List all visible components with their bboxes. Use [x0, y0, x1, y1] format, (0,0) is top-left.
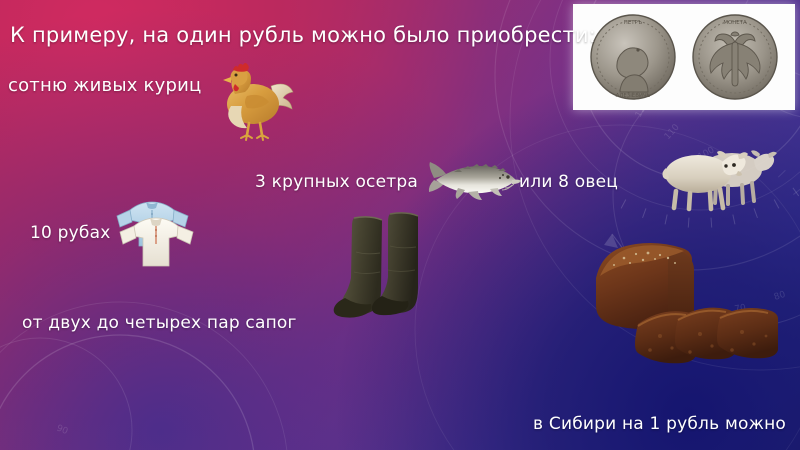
page-title: К примеру, на один рубль можно было прио… — [10, 22, 596, 48]
item-bread-line-1: в Сибири на 1 рубль можно — [528, 412, 786, 436]
item-sturgeon-label: 3 крупных осетра — [255, 171, 418, 193]
coin-obverse-icon: ПЕТРЪ АЛЕѮIЕВИЧЬ — [588, 12, 678, 102]
svg-text:ПЕТРЪ: ПЕТРЪ — [624, 20, 643, 26]
item-hens-label: сотню живых куриц — [8, 74, 201, 98]
coin-reverse-icon: МОНЕТА — [690, 12, 780, 102]
item-boots-label: от двух до четырех пар сапог — [22, 312, 297, 334]
silver-coins-image: ПЕТРЪ АЛЕѮIЕВИЧЬ — [573, 4, 795, 110]
item-sheep-label: или 8 овец — [519, 171, 618, 193]
svg-text:90: 90 — [55, 424, 70, 438]
item-shirts-label: 10 рубах — [30, 222, 110, 244]
presentation-slide: 120 110 100 40 50 60 70 80 90 — [0, 0, 800, 450]
sturgeon-fish-image — [428, 156, 522, 210]
sheep-image — [650, 138, 780, 210]
item-bread-label: в Сибири на 1 рубль можно было приобрест… — [528, 364, 786, 450]
rye-bread-image — [580, 232, 790, 367]
svg-text:АЛЕѮIЕВИЧЬ: АЛЕѮIЕВИЧЬ — [616, 92, 651, 99]
svg-text:МОНЕТА: МОНЕТА — [723, 20, 747, 26]
chicken-image — [205, 52, 300, 147]
shirts-image — [108, 196, 204, 276]
boots-image — [332, 212, 444, 340]
